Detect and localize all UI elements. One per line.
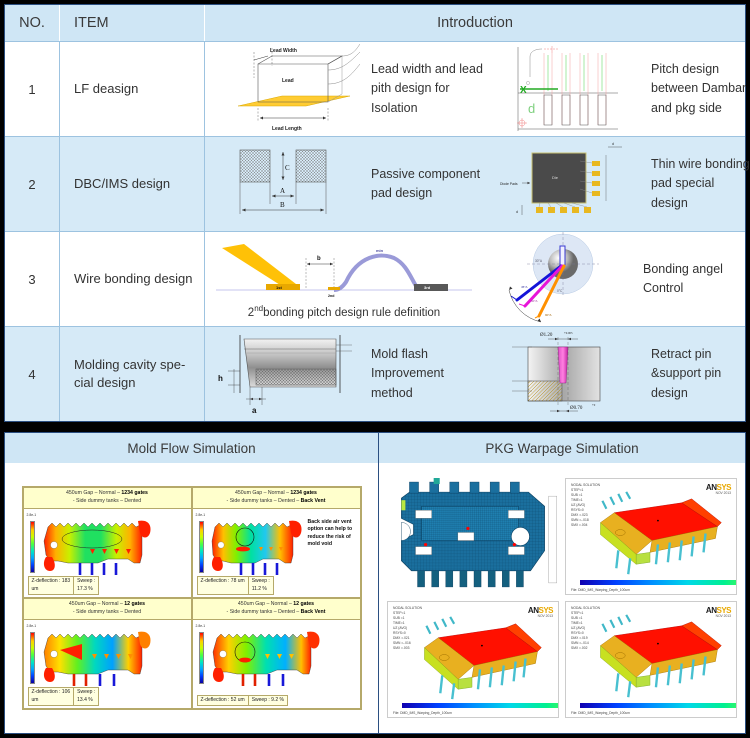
mold-flow-cell-title: 450um Gap – Normal – 12 gates - Side dum…	[193, 599, 360, 620]
svg-text:min: min	[376, 248, 384, 253]
header-label-no: NO.	[19, 15, 45, 31]
title-subline: - Side dummy tanks – Dented	[73, 498, 141, 504]
row-item-label: Wire bonding design	[74, 270, 193, 288]
row-text-right: Thin wire bonding pad special design	[643, 155, 750, 213]
document-page: NO. ITEM Introduction 1 LF deasign	[0, 0, 750, 738]
svg-text:Lead: Lead	[282, 78, 294, 84]
row-text-right: Retract pin &support pin design	[643, 345, 750, 403]
sweep-stat: Sweep : 17.3 %	[74, 577, 98, 594]
ansys-file-label: File: DMD_IMS_Warping_Depth_100um	[571, 711, 630, 715]
mold-flow-stats: Z-deflection : 183 um Sweep : 17.3 %	[28, 576, 100, 595]
ansys-version: NOV 2013	[716, 614, 731, 618]
legend-label: 2.8e-1	[196, 513, 206, 517]
z-deflection-unit: um	[32, 586, 39, 592]
svg-text:Lead Width: Lead Width	[270, 48, 297, 54]
svg-text:Die: Die	[552, 175, 559, 180]
row-introduction-cell: 1st b 2nd min 3rd	[205, 232, 745, 326]
ansys-version: NOV 2013	[716, 491, 731, 495]
sweep-value: 17.3 %	[77, 586, 93, 592]
row-item-label: DBC/IMS design	[74, 175, 170, 193]
title-gates: 1234 gates	[121, 490, 148, 496]
row-item-cell: Molding cavity spe-cial design	[60, 327, 205, 421]
sweep-label: Sweep :	[77, 689, 95, 695]
title-subline: - Side dummy tanks – Dented –	[227, 498, 301, 504]
ansys-file-label: File: DMD_IMS_Warping_Depth_100um	[393, 711, 452, 715]
z-deflection-unit: um	[32, 697, 39, 703]
pkg-warpage-grid: ANSYS NOV 2013 NODAL SOLUTION STEP=1 SUB…	[387, 478, 737, 718]
row-introduction-cell: C A B Passive component pad design	[205, 137, 750, 231]
ansys-version: NOV 2013	[538, 614, 553, 618]
svg-text:B: B	[280, 201, 285, 209]
header-cell-no: NO.	[5, 5, 60, 41]
color-legend-bar	[30, 632, 35, 684]
row-number: 4	[28, 367, 35, 382]
thin-wire-bond-pad-diagram: Die	[483, 141, 643, 227]
title-gates: 12 gates	[293, 601, 314, 607]
header-label-item: ITEM	[74, 15, 109, 31]
svg-text:+0: +0	[592, 403, 596, 407]
row-text-left: Mold flash Improvement method	[365, 345, 483, 403]
z-deflection-label: Z-deflection : 52 um	[201, 697, 245, 703]
z-deflection-label: Z-deflection : 78 um	[201, 578, 245, 584]
ansys-solution-header: NODAL SOLUTION STEP=1 SUB =1 TIME=1 UZ (…	[571, 483, 600, 527]
svg-text:d: d	[516, 210, 518, 214]
sweep-value: 13.4 %	[77, 697, 93, 703]
legend-label: 2.8e-1	[27, 513, 37, 517]
table-header-row: NO. ITEM Introduction	[5, 5, 745, 41]
ansys-solution-header: NODAL SOLUTION STEP=1 SUB =1 TIME=1 UZ (…	[393, 606, 422, 650]
sweep-label: Sweep :	[252, 578, 270, 584]
svg-text:Diode Pads: Diode Pads	[500, 182, 518, 186]
title-gates: 12 gates	[124, 601, 145, 607]
dambar-pitch-cad-diagram: X d	[483, 43, 643, 135]
caption-post: bonding pitch design rule definition	[263, 306, 440, 318]
sweep-value: 11.2 %	[252, 586, 267, 592]
title-subline-bold: Back Vent	[301, 609, 326, 615]
legend-label: 2.8e-1	[196, 624, 206, 628]
header-cell-introduction: Introduction	[205, 5, 745, 41]
title-subline-bold: Back Vent	[301, 498, 326, 504]
table-row: 2 DBC/IMS design	[5, 136, 745, 231]
legend-label: 2.8e-1	[27, 624, 37, 628]
warpage-color-bar	[580, 703, 737, 708]
mold-flow-stats: Z-deflection : 78 um Sweep : 11.2 %	[197, 576, 274, 595]
svg-text:A: A	[280, 187, 285, 195]
row-number-cell: 3	[5, 232, 60, 326]
sweep-label: Sweep :	[77, 578, 95, 584]
svg-text:60°A: 60°A	[531, 299, 538, 303]
row-number: 3	[28, 272, 35, 287]
row-item-cell: LF deasign	[60, 42, 205, 136]
table-row: 1 LF deasign	[5, 41, 745, 136]
fea-mesh-model	[387, 478, 559, 595]
mold-flow-grid: 450um Gap – Normal – 1234 gates - Side d…	[22, 486, 362, 710]
title-gates: 1234 gates	[290, 490, 317, 496]
row-number-cell: 1	[5, 42, 60, 136]
table-row: 4 Molding cavity spe-cial design	[5, 326, 745, 421]
pkg-warpage-panel: PKG Warpage Simulation	[379, 433, 745, 733]
svg-text:X: X	[520, 85, 527, 96]
mold-flow-cell-title: 450um Gap – Normal – 12 gates - Side dum…	[24, 599, 191, 620]
row-item-cell: DBC/IMS design	[60, 137, 205, 231]
z-deflection-stat: Z-deflection : 183 um	[29, 577, 75, 594]
color-legend-bar	[199, 521, 204, 573]
mold-flow-stats: Z-deflection : 52 um Sweep : 9.2 %	[197, 695, 288, 707]
mold-flow-contour-figure: 2.8e-1	[195, 622, 358, 706]
simulation-section: Mold Flow Simulation 450um Gap – Normal …	[4, 432, 746, 734]
z-deflection-stat: Z-deflection : 52 um	[198, 696, 249, 706]
sweep-stat: Sweep : 11.2 %	[249, 577, 273, 594]
svg-text:3rd: 3rd	[424, 285, 431, 290]
warpage-color-bar	[580, 580, 737, 585]
title-prefix: 450um Gap – Normal –	[235, 490, 290, 496]
svg-text:+0.005: +0.005	[564, 331, 573, 335]
row-number-cell: 2	[5, 137, 60, 231]
svg-text:1st: 1st	[276, 285, 282, 290]
warpage-contour-plot: ANSYS NOV 2013 NODAL SOLUTION STEP=1 SUB…	[387, 601, 559, 718]
mold-flow-cell: 450um Gap – Normal – 1234 gates - Side d…	[192, 487, 361, 598]
z-deflection-label: Z-deflection : 183	[32, 578, 71, 584]
design-items-table: NO. ITEM Introduction 1 LF deasign	[4, 4, 746, 422]
color-legend-bar	[199, 632, 204, 684]
mold-flow-panel: Mold Flow Simulation 450um Gap – Normal …	[5, 433, 379, 733]
color-legend-bar	[30, 521, 35, 573]
row-number: 2	[28, 177, 35, 192]
title-subline: - Side dummy tanks – Dented	[73, 609, 141, 615]
ansys-file-label: File: DMD_IMS_Warping_Depth_100um	[571, 588, 630, 592]
mold-flow-body: 450um Gap – Normal – 1234 gates - Side d…	[5, 463, 378, 733]
svg-text:2nd: 2nd	[328, 294, 334, 298]
svg-text:30°A: 30°A	[535, 259, 543, 263]
header-label-introduction: Introduction	[205, 15, 745, 31]
svg-text:b: b	[317, 256, 321, 262]
svg-text:h: h	[218, 374, 223, 383]
title-prefix: 450um Gap – Normal –	[69, 601, 124, 607]
mold-flow-side-note: Back side air vent option can help to re…	[306, 511, 358, 595]
row-number: 1	[28, 82, 35, 97]
title-subline: - Side dummy tanks – Dented –	[227, 609, 301, 615]
row-text-left: Passive component pad design	[365, 165, 483, 204]
sweep-stat: Sweep : 13.4 %	[74, 688, 98, 705]
row-item-cell: Wire bonding design	[60, 232, 205, 326]
svg-text:d: d	[528, 101, 535, 116]
z-deflection-stat: Z-deflection : 78 um	[198, 577, 249, 594]
svg-text:Ø1.20: Ø1.20	[540, 333, 553, 338]
svg-text:C: C	[285, 164, 290, 172]
mold-flow-cell-title: 450um Gap – Normal – 1234 gates - Side d…	[193, 488, 360, 509]
pkg-warpage-body: ANSYS NOV 2013 NODAL SOLUTION STEP=1 SUB…	[379, 463, 745, 733]
row-introduction-cell: Lead Width Lead Lead Length Lead width a…	[205, 42, 750, 136]
warpage-contour-plot: ANSYS NOV 2013 NODAL SOLUTION STEP=1 SUB…	[565, 601, 737, 718]
ansys-solution-header: NODAL SOLUTION STEP=1 SUB =1 TIME=1 UZ (…	[571, 606, 600, 650]
title-prefix: 450um Gap – Normal –	[66, 490, 121, 496]
svg-text:45°A: 45°A	[521, 285, 528, 289]
row-text-right: Pitch design between Dambar and pkg side	[643, 60, 750, 118]
bonding-angle-polar-diagram: 30°A 0°C 45°A 60°A 90°A	[483, 232, 635, 326]
z-deflection-label: Z-deflection : 106	[32, 689, 71, 695]
svg-text:a: a	[252, 406, 257, 415]
lead-width-length-diagram: Lead Width Lead Lead Length	[205, 44, 365, 134]
mold-flow-cell: 450um Gap – Normal – 1234 gates - Side d…	[23, 487, 192, 598]
mold-flow-title: Mold Flow Simulation	[5, 433, 378, 463]
warpage-color-bar	[402, 703, 559, 708]
svg-text:Lead Length: Lead Length	[272, 126, 302, 132]
second-bond-pitch-figure-group: 1st b 2nd min 3rd	[205, 240, 483, 319]
mold-flow-cell-title: 450um Gap – Normal – 1234 gates - Side d…	[24, 488, 191, 509]
mold-cavity-draft-diagram: h a	[205, 331, 365, 417]
second-bond-pitch-profile: 1st b 2nd min 3rd	[210, 240, 478, 302]
row-item-label: LF deasign	[74, 80, 138, 98]
svg-text:d: d	[612, 142, 614, 146]
z-deflection-stat: Z-deflection : 106 um	[29, 688, 75, 705]
row-item-label: Molding cavity spe-cial design	[74, 356, 204, 391]
header-cell-item: ITEM	[60, 5, 205, 41]
pkg-warpage-title: PKG Warpage Simulation	[379, 433, 745, 463]
svg-text:90°A: 90°A	[545, 313, 552, 317]
sweep-label: Sweep : 9.2 %	[252, 697, 284, 703]
svg-text:Ø0.70: Ø0.70	[570, 406, 583, 411]
mold-flow-cell: 450um Gap – Normal – 12 gates - Side dum…	[23, 598, 192, 709]
warpage-contour-plot: ANSYS NOV 2013 NODAL SOLUTION STEP=1 SUB…	[565, 478, 737, 595]
caption-superscript: nd	[254, 304, 263, 313]
title-prefix: 450um Gap – Normal –	[238, 601, 293, 607]
svg-text:0°C: 0°C	[557, 289, 563, 293]
row-text-left: Lead width and lead pith design for Isol…	[365, 60, 483, 118]
retract-support-pin-diagram: Ø1.20 +0.005 Ø0.70 +0	[483, 329, 643, 419]
table-row: 3 Wire bonding design 1st	[5, 231, 745, 326]
row-text-right: Bonding angel Control	[635, 260, 745, 299]
mold-flow-cell: 450um Gap – Normal – 12 gates - Side dum…	[192, 598, 361, 709]
mold-flow-stats: Z-deflection : 106 um Sweep : 13.4 %	[28, 687, 100, 706]
figure-caption: 2ndbonding pitch design rule definition	[248, 304, 440, 319]
row-introduction-cell: h a Mold flash Improvement method	[205, 327, 750, 421]
sweep-stat: Sweep : 9.2 %	[249, 696, 287, 706]
row-number-cell: 4	[5, 327, 60, 421]
passive-pad-dimension-diagram: C A B	[205, 144, 365, 224]
